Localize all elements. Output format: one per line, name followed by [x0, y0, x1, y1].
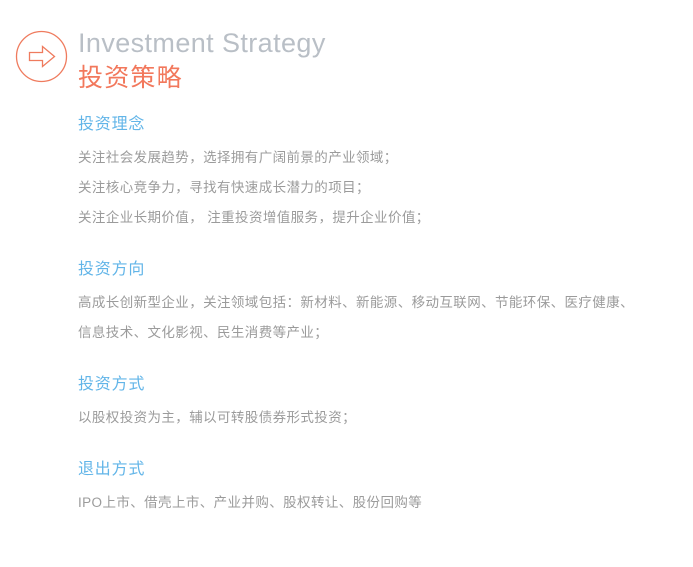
section-body: 以股权投资为主，辅以可转股债券形式投资；	[78, 403, 678, 433]
page-header: Investment Strategy 投资策略	[0, 0, 693, 110]
header-titles: Investment Strategy 投资策略	[78, 26, 326, 94]
body-line: 关注社会发展趋势，选择拥有广阔前景的产业领域；	[78, 143, 678, 173]
page-title-english: Investment Strategy	[78, 26, 326, 60]
body-line: 关注核心竞争力，寻找有快速成长潜力的项目；	[78, 173, 678, 203]
section-heading: 投资方式	[78, 372, 678, 398]
section-body: IPO上市、借壳上市、产业并购、股权转让、股份回购等	[78, 488, 678, 518]
section-exit-method: 退出方式 IPO上市、借壳上市、产业并购、股权转让、股份回购等	[78, 457, 678, 518]
body-line: 信息技术、文化影视、民生消费等产业；	[78, 318, 678, 348]
strategy-sections: 投资理念 关注社会发展趋势，选择拥有广阔前景的产业领域； 关注核心竞争力，寻找有…	[78, 112, 678, 518]
section-heading: 投资方向	[78, 257, 678, 283]
investment-strategy-page: Investment Strategy 投资策略 投资理念 关注社会发展趋势，选…	[0, 0, 693, 567]
section-investment-method: 投资方式 以股权投资为主，辅以可转股债券形式投资；	[78, 372, 678, 433]
body-line: 关注企业长期价值， 注重投资增值服务，提升企业价值；	[78, 203, 678, 233]
body-line: 以股权投资为主，辅以可转股债券形式投资；	[78, 403, 678, 433]
body-line: 高成长创新型企业，关注领域包括：新材料、新能源、移动互联网、节能环保、医疗健康、	[78, 288, 678, 318]
circle-arrow-right-icon	[15, 30, 68, 83]
page-title-chinese: 投资策略	[78, 62, 326, 94]
section-heading: 投资理念	[78, 112, 678, 138]
section-investment-direction: 投资方向 高成长创新型企业，关注领域包括：新材料、新能源、移动互联网、节能环保、…	[78, 257, 678, 348]
section-investment-philosophy: 投资理念 关注社会发展趋势，选择拥有广阔前景的产业领域； 关注核心竞争力，寻找有…	[78, 112, 678, 233]
section-heading: 退出方式	[78, 457, 678, 483]
section-body: 关注社会发展趋势，选择拥有广阔前景的产业领域； 关注核心竞争力，寻找有快速成长潜…	[78, 143, 678, 233]
body-line: IPO上市、借壳上市、产业并购、股权转让、股份回购等	[78, 488, 678, 518]
section-body: 高成长创新型企业，关注领域包括：新材料、新能源、移动互联网、节能环保、医疗健康、…	[78, 288, 678, 348]
